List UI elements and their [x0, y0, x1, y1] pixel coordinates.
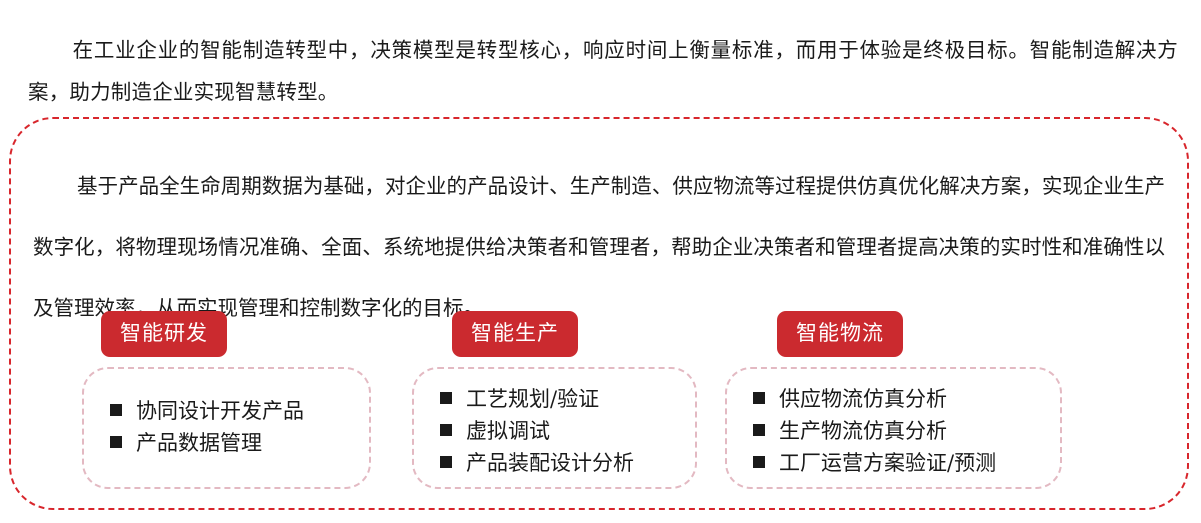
feature-label: 工厂运营方案验证/预测 [779, 447, 996, 479]
bullet-square-icon [753, 424, 765, 436]
solution-panel: 基于产品全生命周期数据为基础，对企业的产品设计、生产制造、供应物流等过程提供仿真… [9, 117, 1189, 510]
bullet-square-icon [440, 392, 452, 404]
category-badge-production[interactable]: 智能生产 [452, 311, 578, 357]
bullet-square-icon [440, 456, 452, 468]
feature-label: 供应物流仿真分析 [779, 383, 947, 415]
category-box-rnd: 协同设计开发产品 产品数据管理 [82, 367, 371, 489]
bullet-square-icon [110, 404, 122, 416]
list-item: 产品装配设计分析 [440, 447, 685, 479]
category-column-rnd: 智能研发 协同设计开发产品 产品数据管理 [82, 311, 371, 489]
intro-paragraph-text: 在工业企业的智能制造转型中，决策模型是转型核心，响应时间上衡量标准，而用于体验是… [28, 38, 1178, 104]
list-item: 协同设计开发产品 [110, 395, 359, 427]
feature-label: 协同设计开发产品 [136, 395, 304, 427]
list-item: 工厂运营方案验证/预测 [753, 447, 1050, 479]
category-badge-rnd[interactable]: 智能研发 [101, 311, 227, 357]
category-column-logistics: 智能物流 供应物流仿真分析 生产物流仿真分析 工厂运营方案验证/预测 [725, 311, 1062, 489]
feature-list-rnd: 协同设计开发产品 产品数据管理 [110, 395, 359, 459]
panel-description-text: 基于产品全生命周期数据为基础，对企业的产品设计、生产制造、供应物流等过程提供仿真… [33, 174, 1165, 320]
feature-label: 产品装配设计分析 [466, 447, 634, 479]
category-box-production: 工艺规划/验证 虚拟调试 产品装配设计分析 [412, 367, 697, 489]
intro-paragraph: 在工业企业的智能制造转型中，决策模型是转型核心，响应时间上衡量标准，而用于体验是… [28, 29, 1178, 113]
bullet-square-icon [440, 424, 452, 436]
category-badge-logistics[interactable]: 智能物流 [777, 311, 903, 357]
bullet-square-icon [110, 436, 122, 448]
bullet-square-icon [753, 456, 765, 468]
bullet-square-icon [753, 392, 765, 404]
list-item: 生产物流仿真分析 [753, 415, 1050, 447]
feature-label: 产品数据管理 [136, 427, 262, 459]
list-item: 工艺规划/验证 [440, 383, 685, 415]
category-box-logistics: 供应物流仿真分析 生产物流仿真分析 工厂运营方案验证/预测 [725, 367, 1062, 489]
category-column-production: 智能生产 工艺规划/验证 虚拟调试 产品装配设计分析 [412, 311, 697, 489]
feature-label: 虚拟调试 [466, 415, 550, 447]
feature-list-logistics: 供应物流仿真分析 生产物流仿真分析 工厂运营方案验证/预测 [753, 383, 1050, 479]
feature-label: 工艺规划/验证 [466, 383, 599, 415]
category-row: 智能研发 协同设计开发产品 产品数据管理 智能生产 工艺规划/验证 虚拟调试 产… [11, 311, 1191, 511]
feature-label: 生产物流仿真分析 [779, 415, 947, 447]
list-item: 产品数据管理 [110, 427, 359, 459]
list-item: 供应物流仿真分析 [753, 383, 1050, 415]
feature-list-production: 工艺规划/验证 虚拟调试 产品装配设计分析 [440, 383, 685, 479]
list-item: 虚拟调试 [440, 415, 685, 447]
